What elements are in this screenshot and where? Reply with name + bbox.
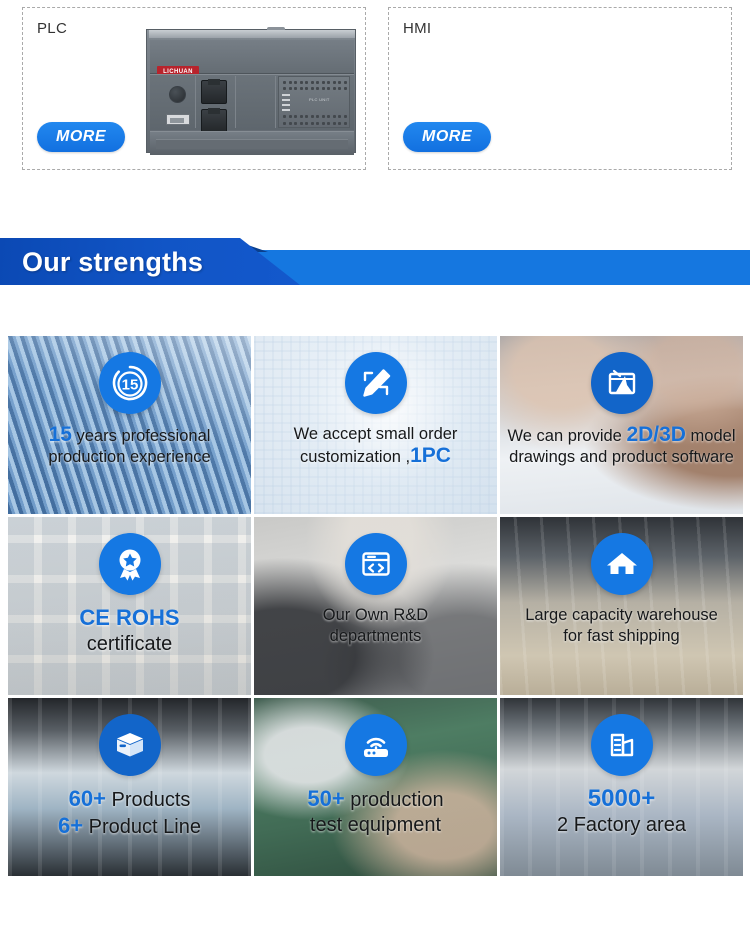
strength-cell-test-equipment[interactable]: 50+ production test equipment xyxy=(254,698,497,876)
house-warehouse-icon xyxy=(591,533,653,595)
factory-building-icon xyxy=(591,714,653,776)
strength-caption: Our Own R&D departments xyxy=(254,605,497,647)
strength-cell-years[interactable]: 15 15 years professional production expe… xyxy=(8,336,251,514)
section-banner: Our strengths xyxy=(0,238,750,288)
caption-line2: test equipment xyxy=(258,813,493,838)
caption-text: Large capacity warehouse xyxy=(525,606,718,624)
years-badge-icon: 15 xyxy=(99,352,161,414)
strengths-grid: 15 15 years professional production expe… xyxy=(8,336,743,876)
caption-highlight: CE ROHS xyxy=(79,605,179,630)
caption-line2: departments xyxy=(258,626,493,647)
more-button-hmi[interactable]: MORE xyxy=(403,122,491,152)
caption-tail: model xyxy=(686,427,736,445)
svg-text:15: 15 xyxy=(121,377,138,394)
caption-text: We accept small order xyxy=(294,425,458,443)
caption-highlight: 2D/3D xyxy=(626,423,686,446)
router-signal-icon xyxy=(345,714,407,776)
caption-line2: certificate xyxy=(12,632,247,657)
strength-cell-certificate[interactable]: CE ROHS certificate xyxy=(8,517,251,695)
caption-highlight: 60+ xyxy=(69,786,106,811)
strength-caption: 5000+ 2 Factory area xyxy=(500,786,743,838)
caption-highlight: 5000+ xyxy=(588,785,655,812)
strength-cell-products[interactable]: 60+ Products 6+ Product Line xyxy=(8,698,251,876)
strength-caption: 50+ production test equipment xyxy=(254,786,497,838)
caption-line2: for fast shipping xyxy=(504,626,739,647)
strength-caption: 60+ Products 6+ Product Line xyxy=(8,786,251,840)
plc-device-image: LICHUAN PLC UNIT xyxy=(146,25,356,156)
caption-highlight: 50+ xyxy=(307,786,344,811)
section-title: Our strengths xyxy=(22,246,203,278)
strength-caption: We accept small order customization ,1PC xyxy=(254,424,497,468)
product-label-plc: PLC xyxy=(37,20,67,37)
strength-caption: Large capacity warehouse for fast shippi… xyxy=(500,605,743,647)
pencil-customization-icon xyxy=(345,352,407,414)
caption-text: Our Own R&D xyxy=(323,606,428,624)
caption-line2: 6+ Product Line xyxy=(12,813,247,840)
product-label-hmi: HMI xyxy=(403,20,431,37)
strength-cell-warehouse[interactable]: Large capacity warehouse for fast shippi… xyxy=(500,517,743,695)
strength-cell-rnd[interactable]: Our Own R&D departments xyxy=(254,517,497,695)
award-ribbon-icon xyxy=(99,533,161,595)
caption-line2: production experience xyxy=(12,447,247,468)
product-card-plc[interactable]: PLC LICHUAN xyxy=(22,7,366,170)
strength-caption: CE ROHS certificate xyxy=(8,605,251,657)
caption-text: We can provide xyxy=(508,427,627,445)
caption-highlight: 1PC xyxy=(410,444,451,467)
strength-cell-factory-area[interactable]: 5000+ 2 Factory area xyxy=(500,698,743,876)
caption-text: production xyxy=(345,789,444,811)
caption-line2: drawings and product software xyxy=(504,447,739,468)
page-root: PLC LICHUAN xyxy=(0,0,750,925)
cad-drawing-icon xyxy=(591,352,653,414)
caption-text: Products xyxy=(106,789,190,811)
package-box-icon xyxy=(99,714,161,776)
more-button-plc[interactable]: MORE xyxy=(37,122,125,152)
caption-line2: 2 Factory area xyxy=(504,813,739,838)
strength-caption: We can provide 2D/3D model drawings and … xyxy=(500,424,743,468)
product-card-hmi[interactable]: HMI LICHUAN MORE xyxy=(388,7,732,170)
caption-line2: customization ,1PC xyxy=(258,445,493,468)
code-window-icon xyxy=(345,533,407,595)
caption-text: years professional xyxy=(72,427,211,445)
product-teaser-row: PLC LICHUAN xyxy=(0,0,750,180)
strength-cell-cad[interactable]: We can provide 2D/3D model drawings and … xyxy=(500,336,743,514)
strength-cell-customization[interactable]: We accept small order customization ,1PC xyxy=(254,336,497,514)
caption-highlight: 15 xyxy=(49,423,72,446)
strength-caption: 15 years professional production experie… xyxy=(8,424,251,468)
